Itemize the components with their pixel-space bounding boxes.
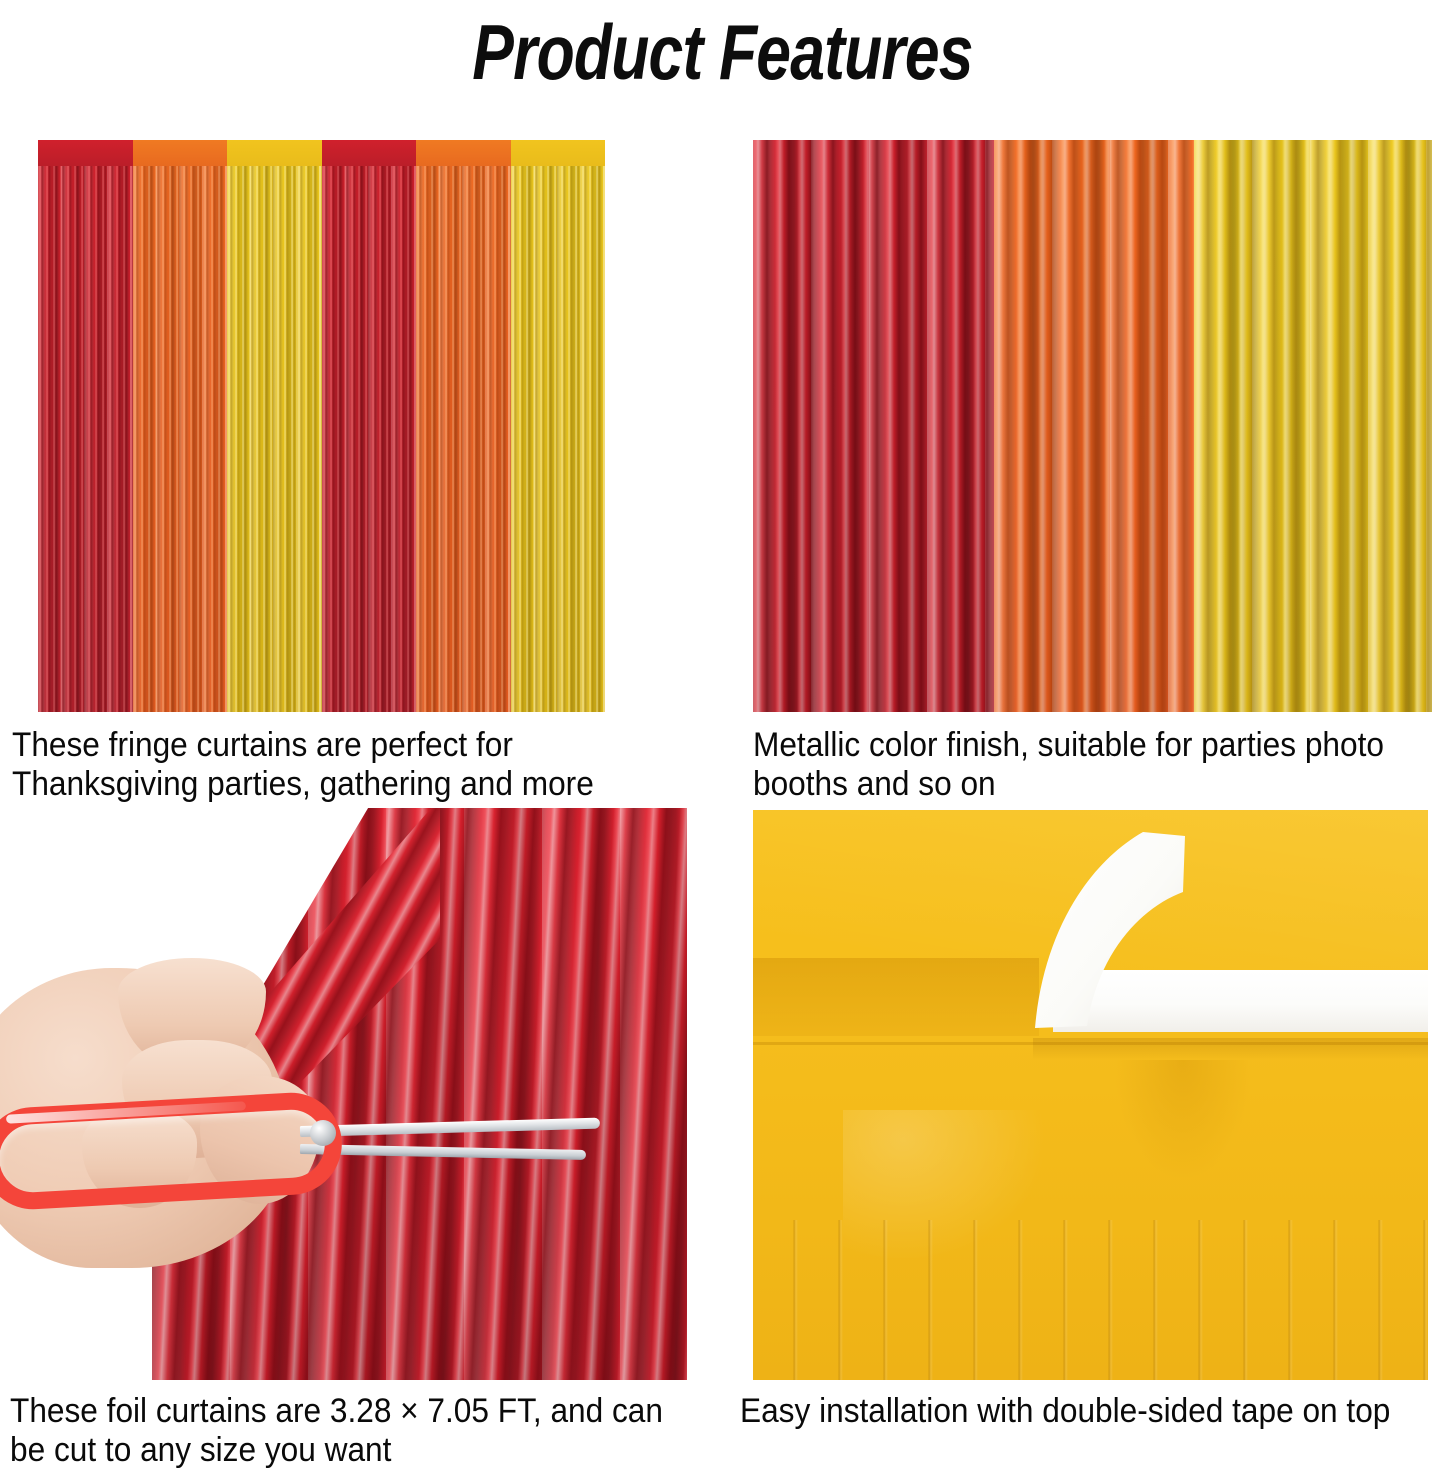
fringe-strands [753,140,994,712]
fringe-strands [322,140,417,712]
feature-image-tape [753,810,1428,1380]
fringe-strands [416,140,511,712]
page-title: Product Features [145,4,1301,100]
feature-image-fringe-wide [38,140,605,712]
curtain-stripe-orange-1 [133,140,228,712]
curtain-stripe-red [753,140,994,712]
feature-caption-fringe-wide: These fringe curtains are perfect for Th… [12,726,663,804]
curtain-stripe-red-2 [322,140,417,712]
curtain-stripe-yellow-1 [227,140,322,712]
foil-wrinkle [1113,1060,1253,1180]
fringe-strands [511,140,606,712]
fringe-strands [133,140,228,712]
fringe-strands [38,140,133,712]
fringe-strands [1194,140,1432,712]
curtain-stripe-yellow-2 [511,140,606,712]
fringe-strands [994,140,1194,712]
scissors-pivot-screw [310,1120,336,1146]
feature-caption-cutting: These foil curtains are 3.28 × 7.05 FT, … [10,1392,680,1470]
tape-liner-peeled [1025,830,1210,1045]
curtain-stripe-group [753,140,1432,712]
double-sided-tape-strip [753,958,1039,1036]
tape-liner-curl-shape [1025,830,1210,1045]
curtain-header-band [38,140,133,166]
curtain-header-band [227,140,322,166]
curtain-stripe-yellow [1194,140,1432,712]
curtain-header-band [416,140,511,166]
curtain-header-band [133,140,228,166]
feature-caption-fringe-closeup: Metallic color finish, suitable for part… [753,726,1432,804]
feature-image-fringe-closeup [753,140,1432,712]
curtain-header-band [511,140,606,166]
feature-image-cutting [0,808,687,1380]
foil-fringe-cuts [753,1220,1428,1380]
curtain-stripe-orange [994,140,1194,712]
curtain-stripe-red-1 [38,140,133,712]
curtain-stripe-group [38,140,605,712]
fringe-strands [227,140,322,712]
feature-caption-tape: Easy installation with double-sided tape… [740,1392,1445,1431]
curtain-stripe-orange-2 [416,140,511,712]
curtain-header-band [322,140,417,166]
